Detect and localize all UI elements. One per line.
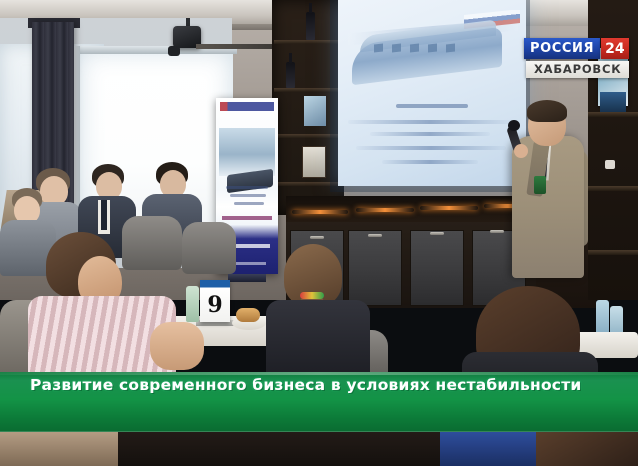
table-number-value: 9 [200,292,230,318]
microphone-head-icon [508,120,520,131]
presentation-screen [338,0,526,186]
channel-logo: РОССИЯ 24 ХАБАРОВСК [524,38,629,78]
banner-stand [228,274,266,282]
chair [122,216,182,270]
channel-number: 24 [601,38,628,59]
region-label: ХАБАРОВСК [526,61,629,78]
slide-photo [344,10,520,96]
ceiling-beam [196,44,276,49]
shelf-cup [605,160,615,169]
foreground-hair [536,430,638,466]
lower-third-ticker: Развитие современного бизнеса в условиях… [0,372,638,432]
foreground-beige [0,430,118,466]
display-book-lower [600,92,626,112]
ticker-highlight [0,372,638,375]
water-bottle [186,286,199,322]
hair-tie [300,292,324,299]
badge-lanyard [534,176,546,194]
pastry [236,308,260,322]
table-number-card: 9 [200,280,230,322]
slide-title-line [396,104,468,108]
chair [182,222,236,274]
broadcast-frame: 9 [0,0,638,466]
channel-name: РОССИЯ [524,38,600,59]
ticker-headline: Развитие современного бизнеса в условиях… [30,376,630,394]
ceiling-sensor-icon [168,46,180,56]
